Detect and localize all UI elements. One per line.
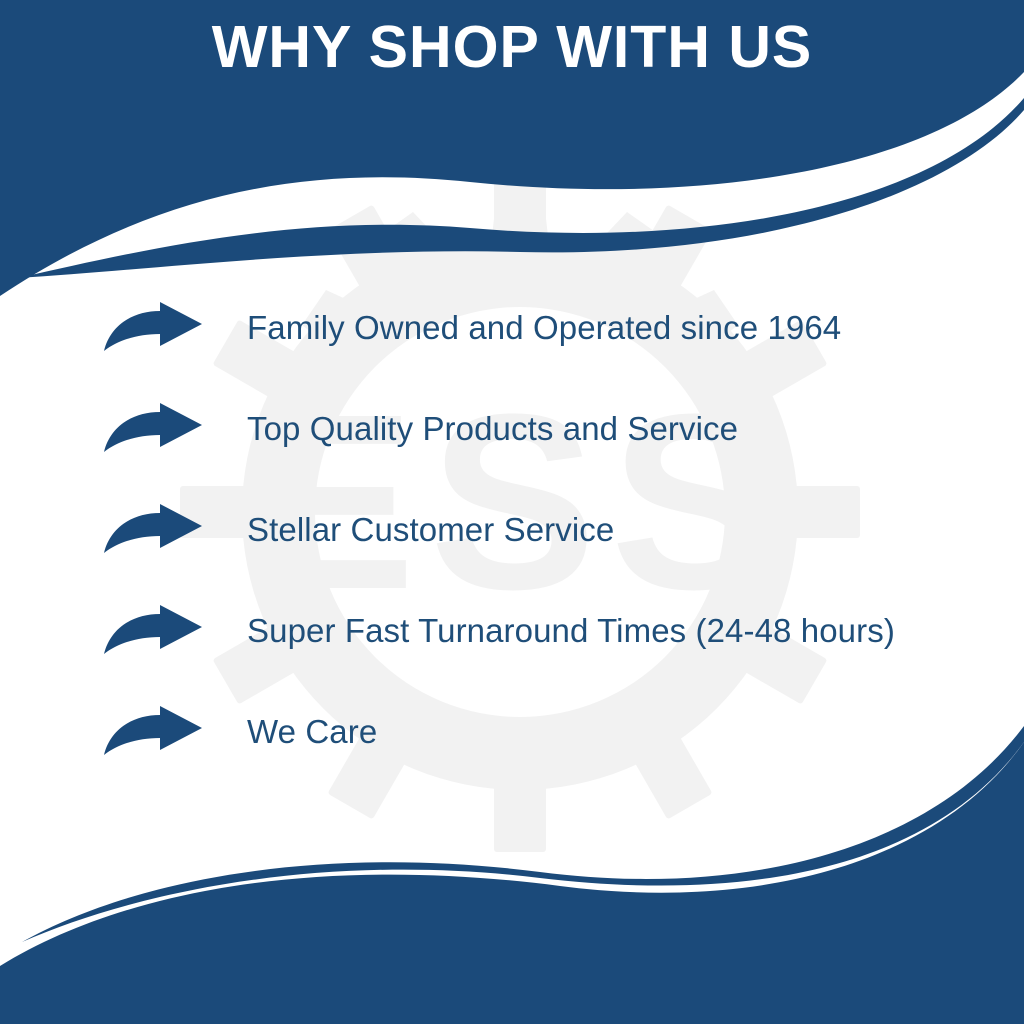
curved-arrow-icon (104, 706, 202, 758)
benefits-list: Family Owned and Operated since 1964 Top… (0, 294, 1024, 799)
list-item: Family Owned and Operated since 1964 (0, 294, 1024, 395)
list-item: Super Fast Turnaround Times (24-48 hours… (0, 597, 1024, 698)
curved-arrow-icon (104, 302, 202, 354)
list-item-label: We Care (247, 706, 377, 758)
promo-poster: ESS WHY SHOP WITH US Family Owned and Op… (0, 0, 1024, 1024)
curved-arrow-icon (104, 504, 202, 556)
curved-arrow-icon (104, 605, 202, 657)
list-item: Stellar Customer Service (0, 496, 1024, 597)
list-item-label: Top Quality Products and Service (247, 403, 738, 455)
curved-arrow-icon (104, 403, 202, 455)
page-title: WHY SHOP WITH US (0, 12, 1024, 82)
list-item: We Care (0, 698, 1024, 799)
list-item-label: Family Owned and Operated since 1964 (247, 302, 841, 354)
list-item-label: Super Fast Turnaround Times (24-48 hours… (247, 605, 895, 657)
list-item: Top Quality Products and Service (0, 395, 1024, 496)
list-item-label: Stellar Customer Service (247, 504, 614, 556)
